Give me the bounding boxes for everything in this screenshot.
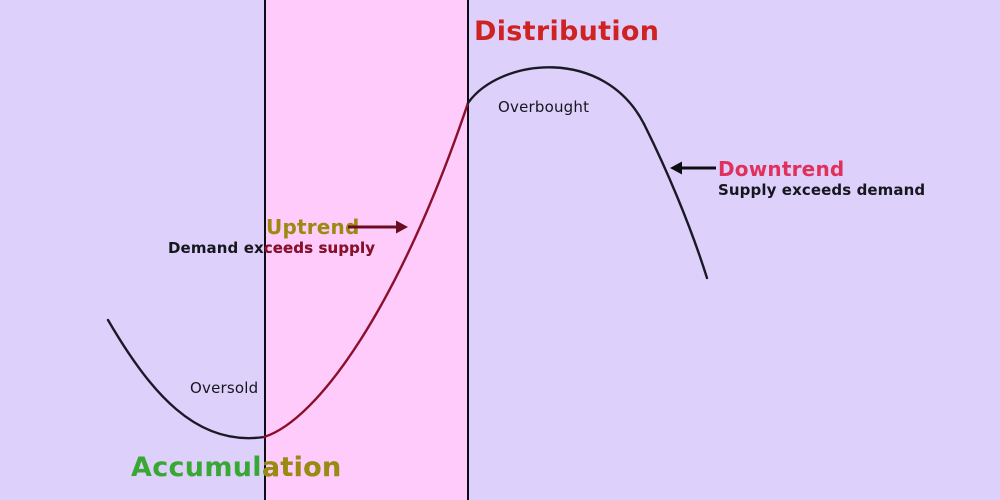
zone-label-oversold: Oversold xyxy=(190,381,258,396)
price-cycle-curve xyxy=(0,0,1000,500)
arrow-right-icon xyxy=(348,218,408,236)
market-cycle-chart: Distribution Accumulation Accumulation O… xyxy=(0,0,1000,500)
phase-title-accumulation-overlay: Accumulation xyxy=(264,452,454,483)
trend-title-uptrend: Uptrend xyxy=(266,217,360,237)
trend-note-downtrend: Supply exceeds demand xyxy=(718,183,925,198)
trend-title-downtrend: Downtrend xyxy=(718,159,844,179)
curve-segment-downtrend xyxy=(644,124,707,278)
arrow-left-icon xyxy=(670,159,716,177)
zone-label-overbought: Overbought xyxy=(498,100,589,115)
trend-note-uptrend-overlay: Demand exceeds supply xyxy=(264,239,444,257)
phase-title-distribution: Distribution xyxy=(474,18,659,45)
curve-segment-uptrend xyxy=(264,103,468,437)
